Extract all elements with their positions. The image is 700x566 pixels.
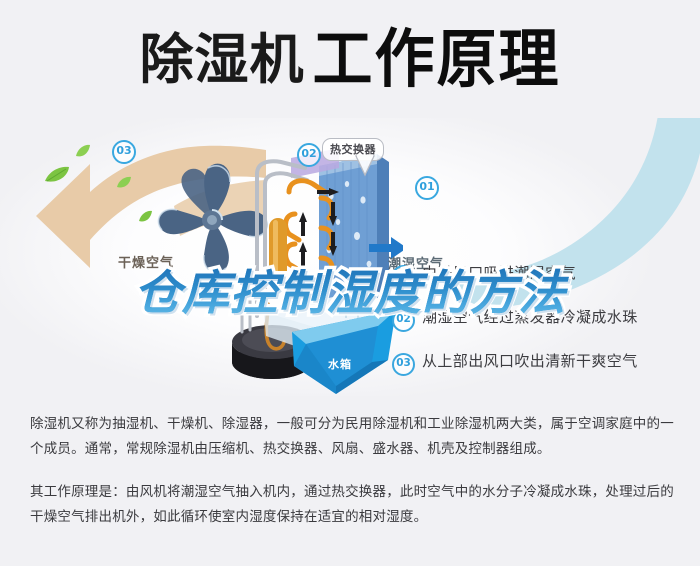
leaf-icon xyxy=(44,166,70,184)
body-paragraph-1: 除湿机又称为抽湿机、干燥机、除湿器，一般可分为民用除湿机和工业除湿机两大类，属于… xyxy=(30,412,674,462)
water-tank-label: 水箱 xyxy=(328,357,352,371)
process-steps-list: 01 由进风口吸进潮湿空气 02 潮湿空气经过蒸发器冷凝成水珠 03 从上部出风… xyxy=(392,263,692,395)
water-tank-assembly: 水箱 xyxy=(228,286,418,396)
badge-01-humid-air: 01 xyxy=(415,176,439,200)
leaf-icon xyxy=(75,144,91,158)
callout-pointer-icon xyxy=(354,155,376,177)
step-number: 01 xyxy=(392,265,415,288)
page-root: 除湿机 工作原理 xyxy=(0,0,700,566)
step-number: 03 xyxy=(392,353,415,376)
label-dry-air: 干燥空气 xyxy=(118,252,174,271)
body-copy: 除湿机又称为抽湿机、干燥机、除湿器，一般可分为民用除湿机和工业除湿机两大类，属于… xyxy=(30,412,674,530)
receiver-cylinder xyxy=(269,218,287,288)
page-title-part1: 除湿机 xyxy=(140,33,305,87)
leaf-icon xyxy=(116,176,132,189)
step-item: 03 从上部出风口吹出清新干爽空气 xyxy=(392,351,692,373)
step-text: 潮湿空气经过蒸发器冷凝成水珠 xyxy=(422,307,638,328)
leaf-icon xyxy=(138,210,153,223)
badge-03-dry-air: 03 xyxy=(112,140,136,164)
step-item: 01 由进风口吸进潮湿空气 xyxy=(392,263,692,285)
step-item: 02 潮湿空气经过蒸发器冷凝成水珠 xyxy=(392,307,692,329)
page-title: 除湿机 工作原理 xyxy=(0,22,700,98)
badge-02-heat-exchanger: 02 xyxy=(297,143,321,167)
body-paragraph-2: 其工作原理是：由风机将潮湿空气抽入机内，通过热交换器，此时空气中的水分子冷凝成水… xyxy=(30,480,674,530)
step-number: 02 xyxy=(392,309,415,332)
page-title-part2: 工作原理 xyxy=(313,28,561,92)
step-text: 由进风口吸进潮湿空气 xyxy=(422,263,576,284)
step-text: 从上部出风口吹出清新干爽空气 xyxy=(422,351,638,372)
